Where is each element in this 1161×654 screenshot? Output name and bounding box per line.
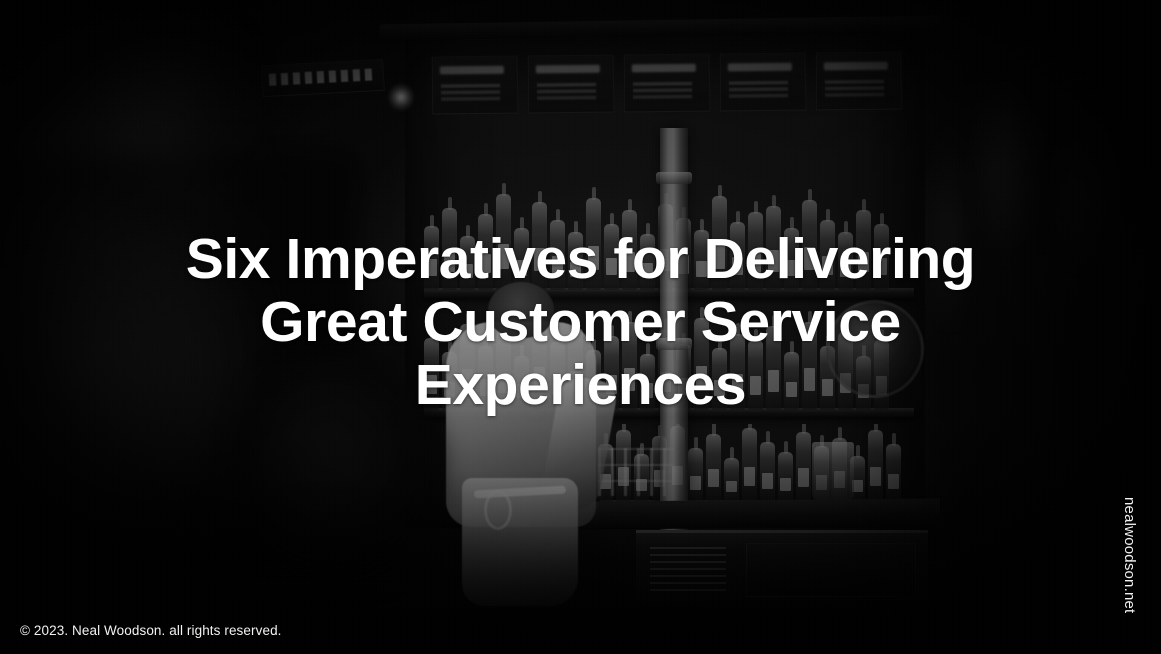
title-line-3: Experiences (0, 354, 1161, 417)
website-url-vertical[interactable]: nealwoodson.net (1122, 497, 1138, 637)
title-line-2: Great Customer Service (0, 291, 1161, 354)
copyright-notice: © 2023. Neal Woodson. all rights reserve… (20, 623, 282, 638)
title-line-1: Six Imperatives for Delivering (0, 228, 1161, 291)
website-url-label: nealwoodson.net (1121, 497, 1138, 613)
slide-title: Six Imperatives for Delivering Great Cus… (0, 228, 1161, 417)
presentation-slide: Six Imperatives for Delivering Great Cus… (0, 0, 1161, 654)
